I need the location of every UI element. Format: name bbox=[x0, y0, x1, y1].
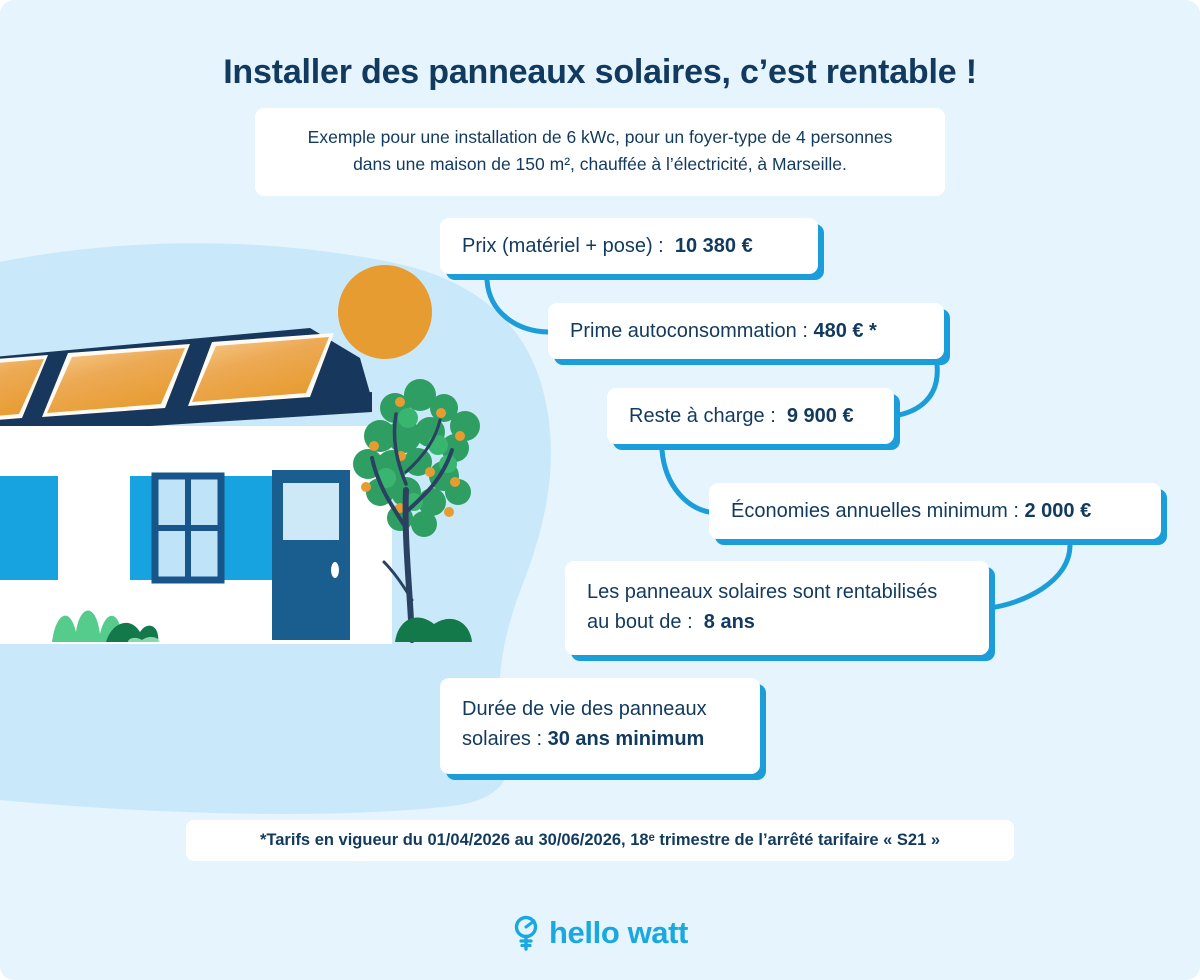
connector-prime-to-reste bbox=[894, 365, 937, 416]
brand-logo: hello watt bbox=[0, 915, 1200, 951]
callout-economies-value: 2 000 € bbox=[1024, 500, 1091, 522]
subtitle-line-2: dans une maison de 150 m², chauffée à l’… bbox=[281, 151, 919, 178]
house-facade bbox=[0, 426, 392, 642]
roof-shape bbox=[0, 328, 372, 426]
tree bbox=[128, 379, 480, 642]
bush-left bbox=[52, 611, 158, 643]
connector-reste-to-economies bbox=[662, 450, 709, 512]
callout-prime-value: 480 € * bbox=[813, 320, 876, 342]
window-left bbox=[0, 476, 58, 580]
callout-rentabilite: Les panneaux solaires sont rentabilisés … bbox=[565, 561, 989, 655]
sun-icon bbox=[338, 265, 432, 359]
callout-duree-line-1: Durée de vie des panneaux bbox=[462, 694, 738, 724]
solar-panels-group bbox=[0, 333, 334, 425]
lightbulb-icon bbox=[512, 915, 540, 951]
connector-economies-to-rentab bbox=[989, 545, 1070, 608]
callout-prix-value: 10 380 € bbox=[675, 235, 753, 257]
window-right bbox=[130, 476, 280, 580]
subtitle-card: Exemple pour une installation de 6 kWc, … bbox=[255, 108, 945, 196]
callout-reste-label: Reste à charge : bbox=[629, 401, 776, 431]
callout-duree-value: 30 ans minimum bbox=[548, 728, 705, 750]
callout-prix-label: Prix (matériel + pose) : bbox=[462, 231, 664, 261]
callout-rentabilite-line-1: Les panneaux solaires sont rentabilisés bbox=[587, 577, 967, 607]
subtitle-line-1: Exemple pour une installation de 6 kWc, … bbox=[281, 124, 919, 151]
infographic-canvas: Installer des panneaux solaires, c’est r… bbox=[0, 0, 1200, 980]
callout-economies-label: Économies annuelles minimum : bbox=[731, 496, 1019, 526]
callout-duree-label: solaires : bbox=[462, 728, 542, 750]
callout-reste-value: 9 900 € bbox=[787, 405, 854, 427]
callout-prix: Prix (matériel + pose) : 10 380 € bbox=[440, 218, 818, 274]
connector-prix-to-prime bbox=[487, 280, 548, 332]
page-title: Installer des panneaux solaires, c’est r… bbox=[0, 53, 1200, 92]
callout-economies: Économies annuelles minimum : 2 000 € bbox=[709, 483, 1161, 539]
house-illustration bbox=[0, 240, 520, 670]
logo-wordmark: hello watt bbox=[549, 915, 688, 951]
footnote-bar: *Tarifs en vigueur du 01/04/2026 au 30/0… bbox=[186, 820, 1014, 861]
callout-prime-label: Prime autoconsommation : bbox=[570, 316, 808, 346]
callout-prime: Prime autoconsommation : 480 € * bbox=[548, 303, 944, 359]
front-door bbox=[272, 470, 350, 642]
callout-reste-a-charge: Reste à charge : 9 900 € bbox=[607, 388, 894, 444]
callout-duree-de-vie: Durée de vie des panneaux solaires : 30 … bbox=[440, 678, 760, 774]
callout-rentabilite-value: 8 ans bbox=[704, 611, 755, 633]
tree-fruits bbox=[361, 397, 465, 517]
callout-rentabilite-label: au bout de : bbox=[587, 611, 693, 633]
